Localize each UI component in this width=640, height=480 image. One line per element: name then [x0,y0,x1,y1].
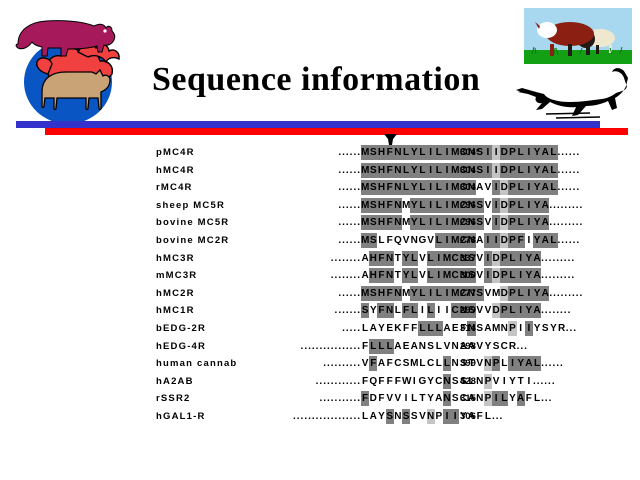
residue-cell: T [517,374,525,389]
residue-cell: R [508,339,516,354]
residue-sequence: ......MSHFNMYLILIMCNSVMDPLIYA......... [249,286,583,303]
sequence-name-label: bovine MC5R [156,217,229,228]
residue-cell: Y [533,215,541,230]
residue-cell: I [492,391,500,406]
residue-cell: L [427,268,435,283]
residue-cell: Y [533,163,541,178]
residue-cell: N [394,180,402,195]
residue-cell: A [533,303,541,318]
residue-cell: I [517,321,525,336]
residue-cell: L [361,409,369,424]
gap-dots-trailing: ........ [541,303,571,318]
gap-dots-trailing: ...... [558,145,581,160]
residue-cell: A [533,268,541,283]
sequence-name-label: bovine MC2R [156,235,229,246]
residue-cell: N [500,321,508,336]
residue-cell: A [525,356,533,371]
residue-cell: A [443,321,451,336]
residue-cell: F [386,180,394,195]
residue-position-number: 315 [460,393,476,404]
residue-cell: Y [427,391,435,406]
residue-cell: M [361,198,369,213]
residue-cell: I [443,215,451,230]
residue-cell: M [361,286,369,301]
residue-cell: L [435,215,443,230]
sequence-name-label: hEDG-4R [156,341,206,352]
residue-cell: I [484,163,492,178]
gap-dots-leading: .................. [293,409,361,424]
residue-cell: Q [394,233,402,248]
residue-cell: F [517,233,525,248]
residue-cells: MSHFNMYLILIMCNSVMDPLIYA [361,286,549,301]
residue-sequence: ................FLLLAEANSLVNAAVYSCR... [249,339,528,356]
residue-cell: M [443,251,451,266]
residue-position-number: 277 [460,288,476,299]
residue-sequence: ......MSHFNLYLILIMCNSIIDPLIYAL...... [249,145,580,162]
residue-cell: I [443,303,451,318]
residue-cell: A [410,339,418,354]
gap-dots-trailing: ... [517,339,528,354]
residue-cell: I [517,268,525,283]
residue-cell: N [394,286,402,301]
residue-position-number: 306 [460,411,476,422]
residue-cell: M [451,286,459,301]
cattle-pasture-photo [524,8,632,64]
residue-cell: V [484,286,492,301]
residue-cell: L [500,356,508,371]
alignment-row: rSSR2...........FDFVVILTYANSCANPILYAFL..… [0,391,640,408]
residue-cell: D [492,303,500,318]
residue-cell: S [410,409,418,424]
residue-cell: H [369,251,377,266]
residue-cell: L [435,321,443,336]
gap-dots-leading: .......... [323,356,361,371]
residue-cell: V [443,339,451,354]
residue-cell: I [492,198,500,213]
residue-cell: N [386,251,394,266]
sequence-name-label: sheep MC5R [156,200,225,211]
residue-cell: F [386,215,394,230]
residue-cell: I [443,233,451,248]
residue-cell: N [443,374,451,389]
residue-cell: Y [377,321,385,336]
residue-position-number: 300 [460,270,476,281]
residue-cell: L [435,339,443,354]
residue-cell: L [435,233,443,248]
gap-dots-trailing: ......... [541,268,575,283]
residue-cell: I [443,163,451,178]
residue-position-number: 428 [460,376,476,387]
residue-cell: A [541,145,549,160]
residue-cell: P [435,409,443,424]
residue-cell: H [369,268,377,283]
residue-cell: I [492,233,500,248]
residue-position-number: 314 [460,323,476,334]
residue-cell: M [443,268,451,283]
leading-gap-box: ...... [249,198,361,213]
residue-cell: I [484,145,492,160]
residue-cell: Y [402,268,410,283]
residue-cell: A [369,321,377,336]
residue-cell: L [500,391,508,406]
residue-position-number: 304 [460,165,476,176]
residue-cell: F [386,356,394,371]
alignment-row: hA2AB............FQFFFWIGYCNSSLNPVIYTI..… [0,374,640,391]
residue-cell: D [500,180,508,195]
residue-cell: S [369,233,377,248]
residue-cell: C [427,356,435,371]
gap-dots-trailing: ... [492,409,503,424]
leading-gap-box: ........ [249,251,361,266]
residue-cell: L [508,268,516,283]
leading-gap-box: ...... [249,145,361,160]
residue-cell: A [541,233,549,248]
residue-cell: I [484,268,492,283]
gap-dots-trailing: ...... [558,180,581,195]
gap-dots-leading: ....... [335,303,361,318]
farm-animals-logo [4,4,132,124]
residue-cell: S [369,198,377,213]
residue-cell: A [541,286,549,301]
residue-cell: S [386,409,394,424]
residue-cell: Y [533,198,541,213]
leading-gap-box: ...... [249,180,361,195]
residue-cell: L [386,339,394,354]
residue-cell: L [427,303,435,318]
residue-cell: L [435,198,443,213]
residue-cell: S [402,409,410,424]
residue-cell: F [386,286,394,301]
residue-cell: I [525,163,533,178]
residue-cell: F [361,374,369,389]
residue-cell: F [377,391,385,406]
residue-cell: P [508,145,516,160]
residue-cell: I [492,145,500,160]
residue-cell: I [443,145,451,160]
residue-sequence: .......SYFNLFLILIICNSVVDPLIYA........ [249,303,571,320]
residue-cell: L [418,163,426,178]
gap-dots-trailing: ...... [533,374,556,389]
residue-cell: H [377,215,385,230]
residue-cell: S [369,180,377,195]
residue-cell: N [394,215,402,230]
residue-cell: M [361,233,369,248]
sequence-name-label: rMC4R [156,182,193,193]
residue-cell: V [484,215,492,230]
leading-gap-box: .......... [249,356,361,371]
residue-cell: M [451,198,459,213]
residue-cell: Y [402,251,410,266]
sequence-name-label: human cannab [156,358,237,369]
sequence-name-label: pMC4R [156,147,195,158]
residue-cell: I [427,180,435,195]
residue-cell: M [492,286,500,301]
residue-cell: Y [377,409,385,424]
residue-cells: FDFVVILTYANSCANPILYAFL [361,391,541,406]
leading-gap-box: ..... [249,321,361,336]
residue-cell: D [492,268,500,283]
residue-cell: P [484,374,492,389]
gap-dots-leading: ...... [338,215,361,230]
residue-cell: M [402,198,410,213]
residue-cell: F [386,145,394,160]
residue-cell: N [443,391,451,406]
residue-cell: A [361,268,369,283]
residue-position-number: 278 [460,235,476,246]
residue-cell: S [369,286,377,301]
residue-cell: M [492,321,500,336]
residue-cell: N [451,339,459,354]
residue-position-number: 296 [460,200,476,211]
residue-cell: L [394,303,402,318]
residue-cell: I [427,215,435,230]
residue-cell: D [500,145,508,160]
residue-cell: I [484,251,492,266]
residue-cell: L [443,356,451,371]
residue-cell: I [427,163,435,178]
residue-cell: I [525,198,533,213]
residue-cell: M [402,215,410,230]
residue-cell: F [386,233,394,248]
residue-cell: S [476,163,484,178]
residue-cell: Y [533,145,541,160]
gap-dots-trailing: ...... [558,233,581,248]
residue-cell: N [394,163,402,178]
residue-cell: A [476,180,484,195]
gap-dots-trailing: ......... [541,251,575,266]
residue-cell: L [418,286,426,301]
residue-cell: M [451,180,459,195]
residue-cell: S [476,321,484,336]
residue-cell: Y [410,215,418,230]
residue-cell: D [500,286,508,301]
grass [524,50,632,64]
residue-cell: L [435,163,443,178]
residue-cell: N [386,303,394,318]
leading-gap-box: ........ [249,268,361,283]
residue-cell: S [402,356,410,371]
residue-cell: L [533,391,541,406]
residue-cell: I [492,180,500,195]
residue-cell: V [484,198,492,213]
leading-gap-box: ................ [249,339,361,354]
gap-dots-leading: ................ [301,339,361,354]
residue-cell: I [443,286,451,301]
alignment-row: human cannab..........VFAFCSMLCLLNSTVNPL… [0,356,640,373]
residue-cell: L [410,303,418,318]
residue-cell: P [508,163,516,178]
sequence-name-label: hMC1R [156,305,195,316]
leading-gap-box: ...... [249,215,361,230]
residue-cell: P [500,268,508,283]
gap-dots-trailing: ... [541,391,552,406]
residue-cell: L [418,356,426,371]
residue-cell: L [517,198,525,213]
residue-cell: S [541,321,549,336]
residue-cell: P [492,356,500,371]
residue-cell: E [451,321,459,336]
residue-cell: C [435,374,443,389]
residue-cell: Y [517,356,525,371]
residue-cell: G [418,233,426,248]
residue-cell: M [361,163,369,178]
residue-cell: N [410,233,418,248]
residue-cell: L [435,286,443,301]
residue-cell: I [435,303,443,318]
residue-cell: V [484,303,492,318]
residue-cell: I [427,198,435,213]
residue-cell: L [484,409,492,424]
residue-cell: I [525,374,533,389]
residue-sequence: ......MSLFQVNGVLIMCNAIIDPFIYAL...... [249,233,580,250]
residue-sequence: ..........VFAFCSMLCLLNSTVNPLIYAL...... [249,356,564,373]
residue-cell: F [369,356,377,371]
alignment-row: hGAL1-R..................LAYSNSSVNPIIYAF… [0,409,640,426]
residue-cell: F [402,303,410,318]
gap-dots-trailing: ......... [549,286,583,301]
residue-cell: N [418,339,426,354]
horse-tail [516,88,536,93]
residue-cell: P [500,251,508,266]
residue-cell: L [410,268,418,283]
leading-gap-box: ....... [249,303,361,318]
residue-cell: L [410,391,418,406]
residue-cell: L [410,251,418,266]
residue-cell: E [402,339,410,354]
residue-cell: C [451,251,459,266]
sequence-name-label: bEDG-2R [156,323,206,334]
residue-cell: S [451,374,459,389]
residue-cell: M [410,356,418,371]
residue-cell: S [361,303,369,318]
leading-gap-box: ...... [249,163,361,178]
residue-cell: Y [525,303,533,318]
residue-cell: V [402,233,410,248]
leading-gap-box: ........... [249,391,361,406]
residue-cell: L [418,145,426,160]
residue-cell: L [517,215,525,230]
residue-cells: VFAFCSMLCLLNSTVNPLIYAL [361,356,541,371]
residue-cell: L [402,180,410,195]
residue-cell: L [533,356,541,371]
residue-cell: V [476,303,484,318]
residue-cell: S [369,163,377,178]
gap-dots-leading: ........... [319,391,361,406]
sequence-name-label: hGAL1-R [156,411,206,422]
leading-gap-box: ...... [249,233,361,248]
alignment-row: hMC1R.......SYFNLFLILIICNSVVDPLIYA......… [0,303,640,320]
residue-cell: A [435,391,443,406]
residue-sequence: .....LAYEKFFLLLAEFNSAMNPIIYSYR... [249,321,577,338]
residue-cell: L [517,286,525,301]
residue-cells: FQFFFWIGYCNSSLNPVIYTI [361,374,533,389]
residue-cell: L [369,339,377,354]
leading-gap-box: ...... [249,286,361,301]
residue-cells: MSHFNMYLILIMCNSVIDPLIYA [361,198,549,213]
residue-cell: N [484,356,492,371]
residue-cell: I [443,198,451,213]
residue-cell: I [525,286,533,301]
residue-cell: M [451,163,459,178]
residue-cell: P [508,286,516,301]
residue-cell: L [508,303,516,318]
residue-position-number: 337 [460,253,476,264]
residue-cell: M [451,145,459,160]
residue-cell: L [418,198,426,213]
residue-cell: S [369,145,377,160]
residue-cell: E [386,321,394,336]
residue-position-number: 299 [460,305,476,316]
residue-cell: I [525,321,533,336]
residue-cell: F [377,251,385,266]
residue-cell: C [500,339,508,354]
residue-cell: D [500,163,508,178]
sequence-name-label: hA2AB [156,376,194,387]
residue-cell: S [451,391,459,406]
residue-cell: I [443,409,451,424]
residue-sequence: ............FQFFFWIGYCNSSLNPVIYTI...... [249,374,556,391]
residue-cell: P [484,391,492,406]
residue-cell: Y [410,163,418,178]
gap-dots-leading: ...... [338,286,361,301]
residue-cell: N [394,409,402,424]
residue-cell: N [394,145,402,160]
residue-cells: SYFNLFLILIICNSVVDPLIYA [361,303,541,318]
sequence-name-label: hMC4R [156,165,195,176]
residue-cell: P [508,198,516,213]
residue-cell: K [394,321,402,336]
residue-cell: F [386,374,394,389]
residue-cell: Y [369,303,377,318]
residue-cell: Y [508,374,516,389]
residue-cell: L [549,180,557,195]
residue-cell: D [500,233,508,248]
residue-cell: V [394,391,402,406]
residue-cell: Y [410,180,418,195]
residue-cell: F [386,163,394,178]
residue-cell: I [500,374,508,389]
residue-cell: N [476,374,484,389]
residue-cell: P [508,215,516,230]
residue-cell: V [427,233,435,248]
residue-cell: H [377,286,385,301]
residue-cell: F [386,198,394,213]
residue-sequence: ......MSHFNLYLILIMCNSIIDPLIYAL...... [249,163,580,180]
residue-cell: W [402,374,410,389]
alignment-row: mMC3R........AHFNTYLVLIMCNSVIDPLIYA.....… [0,268,640,285]
residue-cell: L [427,251,435,266]
residue-cell: A [484,321,492,336]
residue-cell: Y [508,391,516,406]
residue-cell: M [402,286,410,301]
residue-cell: D [500,198,508,213]
residue-cell: L [508,251,516,266]
residue-cell: L [549,233,557,248]
residue-cell: C [451,268,459,283]
residue-position-number: 304 [460,182,476,193]
residue-cell: A [361,251,369,266]
residue-cell: Y [533,233,541,248]
residue-cell: V [386,391,394,406]
residue-cell: C [394,356,402,371]
residue-sequence: ........AHFNTYLVLIMCNSVIDPLIYA......... [249,251,575,268]
residue-cell: M [361,145,369,160]
residue-cell: Y [525,268,533,283]
leading-gap-box: .................. [249,409,361,424]
residue-sequence: ...........FDFVVILTYANSCANPILYAFL... [249,391,552,408]
residue-cell: C [451,303,459,318]
residue-cell: G [418,374,426,389]
